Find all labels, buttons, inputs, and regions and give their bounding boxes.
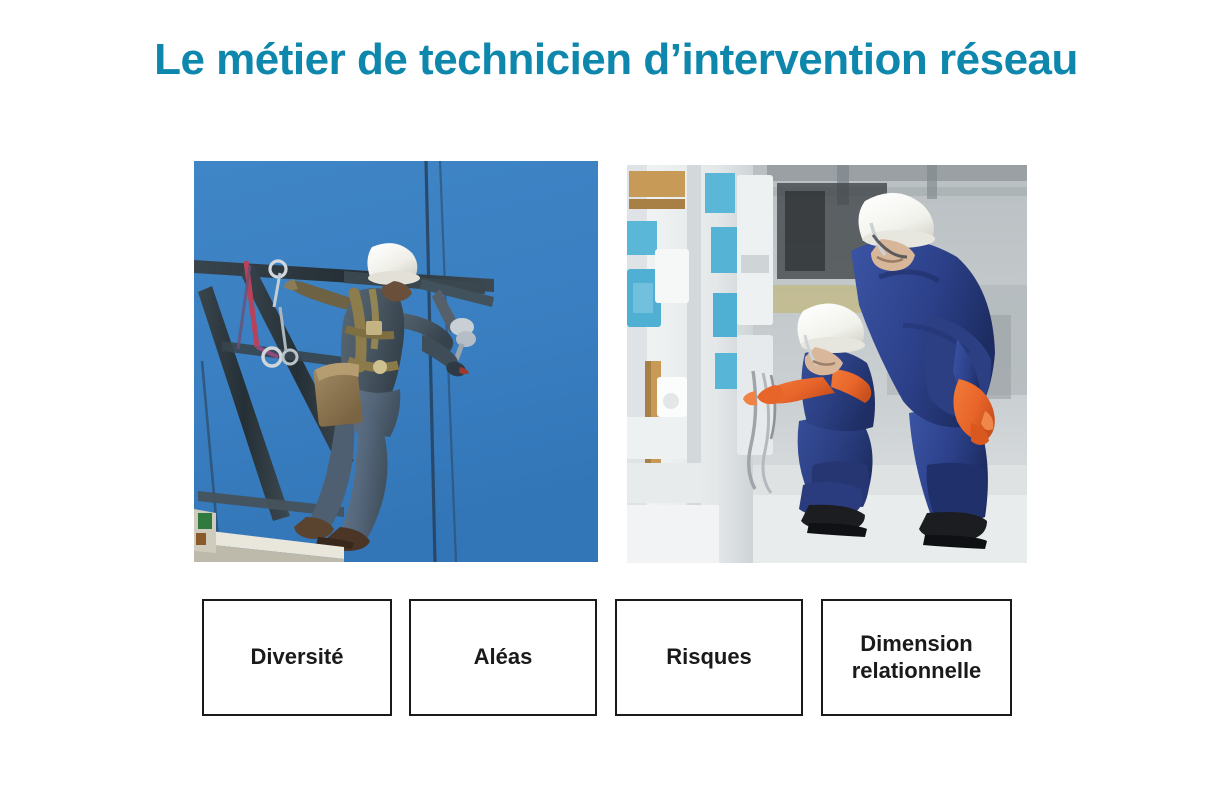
- concept-label-risques: Risques: [660, 644, 758, 671]
- concept-label-diversite: Diversité: [245, 644, 350, 671]
- concept-label-aleas: Aléas: [468, 644, 539, 671]
- photo-lineman-on-pole: [194, 161, 598, 562]
- concept-box-risques[interactable]: Risques: [615, 599, 803, 716]
- concept-label-dimension-relationnelle: Dimension relationnelle: [846, 631, 988, 685]
- slide-canvas: Le métier de technicien d’intervention r…: [0, 0, 1232, 786]
- concept-box-diversite[interactable]: Diversité: [202, 599, 392, 716]
- concept-label-line-2: relationnelle: [852, 658, 982, 683]
- page-title: Le métier de technicien d’intervention r…: [0, 36, 1232, 84]
- photo-two-technicians-switchgear: [627, 165, 1027, 563]
- switchgear-technicians-illustration: [627, 165, 1027, 563]
- concept-box-dimension-relationnelle[interactable]: Dimension relationnelle: [821, 599, 1012, 716]
- lineman-illustration: [194, 161, 598, 562]
- concept-box-aleas[interactable]: Aléas: [409, 599, 597, 716]
- concept-label-line-1: Dimension: [860, 631, 972, 656]
